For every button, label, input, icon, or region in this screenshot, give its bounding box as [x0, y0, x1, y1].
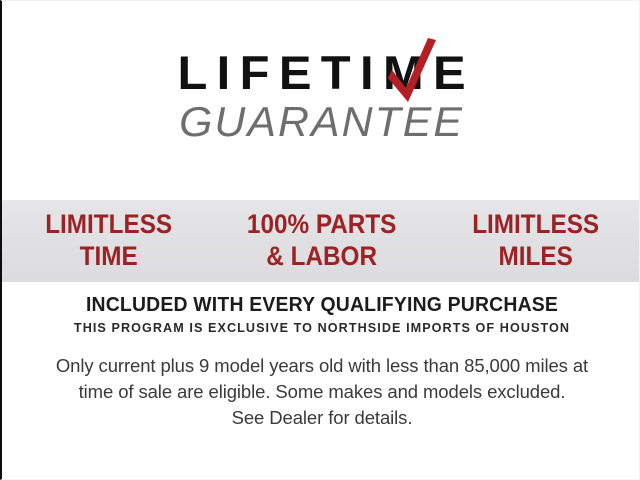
details-fineprint: Only current plus 9 model years old with…	[2, 353, 640, 432]
logo-word-lifetime: LIFETIME	[169, 49, 476, 96]
feature-limitless-miles: LIMITLESS MILES	[439, 209, 631, 272]
fineprint-line-2: time of sale are eligible. Some makes an…	[2, 379, 640, 405]
logo-word-guarantee: GUARANTEE	[172, 100, 473, 144]
details-subheadline: THIS PROGRAM IS EXCLUSIVE TO NORTHSIDE I…	[12, 320, 633, 337]
lifetime-guarantee-ad: LIFETIME GUARANTEE LIMITLESS TIME 100% P…	[0, 0, 640, 480]
feature-limitless-time: LIMITLESS TIME	[13, 209, 205, 272]
details-block: INCLUDED WITH EVERY QUALIFYING PURCHASE …	[2, 293, 640, 432]
feature-line-1: LIMITLESS	[45, 209, 172, 239]
fineprint-line-1: Only current plus 9 model years old with…	[2, 353, 640, 379]
feature-line-2: & LABOR	[226, 241, 418, 273]
logo-lockup: LIFETIME GUARANTEE	[174, 49, 469, 144]
details-headline: INCLUDED WITH EVERY QUALIFYING PURCHASE	[12, 293, 633, 318]
feature-line-1: 100% PARTS	[247, 209, 396, 239]
feature-line-2: TIME	[13, 241, 205, 273]
fineprint-line-3: See Dealer for details.	[2, 405, 640, 431]
feature-band: LIMITLESS TIME 100% PARTS & LABOR LIMITL…	[2, 200, 640, 282]
feature-line-1: LIMITLESS	[472, 209, 599, 239]
feature-parts-labor: 100% PARTS & LABOR	[226, 209, 418, 272]
feature-line-2: MILES	[439, 241, 631, 273]
logo-block: LIFETIME GUARANTEE	[2, 49, 640, 144]
